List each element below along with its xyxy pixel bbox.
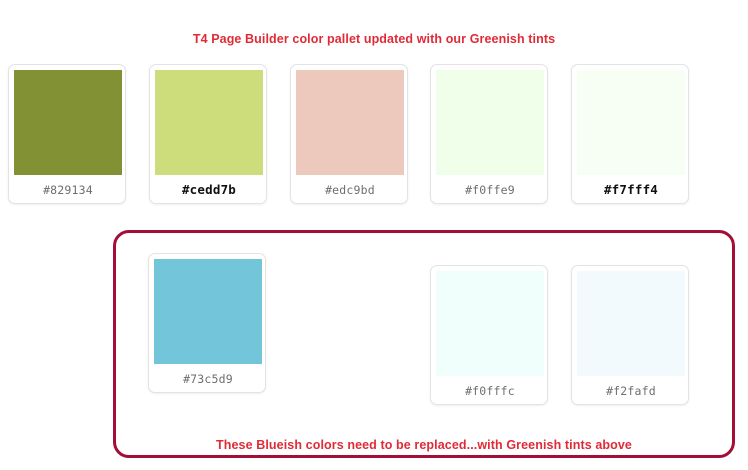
- color-hex-label: #73c5d9: [154, 364, 262, 394]
- color-chip: [436, 271, 544, 376]
- color-swatch-card[interactable]: #f2fafd: [571, 265, 689, 405]
- color-hex-label: #f0fffc: [436, 376, 544, 406]
- color-swatch-card[interactable]: #f0fffc: [430, 265, 548, 405]
- color-chip: [577, 70, 685, 175]
- color-hex-label: #f2fafd: [577, 376, 685, 406]
- color-chip: [14, 70, 122, 175]
- color-swatch-card[interactable]: #f7fff4: [571, 64, 689, 204]
- color-chip: [155, 70, 263, 175]
- color-swatch-card[interactable]: #73c5d9: [148, 253, 266, 393]
- note-blueish-replace: These Blueish colors need to be replaced…: [113, 438, 735, 452]
- color-chip: [154, 259, 262, 364]
- color-hex-label: #f0ffe9: [436, 175, 544, 205]
- color-chip: [577, 271, 685, 376]
- color-hex-label: #829134: [14, 175, 122, 205]
- color-chip: [296, 70, 404, 175]
- color-swatch-card[interactable]: #f0ffe9: [430, 64, 548, 204]
- page-title-greenish: T4 Page Builder color pallet updated wit…: [0, 32, 748, 46]
- color-hex-label: #edc9bd: [296, 175, 404, 205]
- color-swatch-card[interactable]: #edc9bd: [290, 64, 408, 204]
- color-swatch-card[interactable]: #829134: [8, 64, 126, 204]
- color-hex-label: #f7fff4: [577, 175, 685, 205]
- color-hex-label: #cedd7b: [155, 175, 263, 205]
- color-chip: [436, 70, 544, 175]
- color-swatch-card[interactable]: #cedd7b: [149, 64, 267, 204]
